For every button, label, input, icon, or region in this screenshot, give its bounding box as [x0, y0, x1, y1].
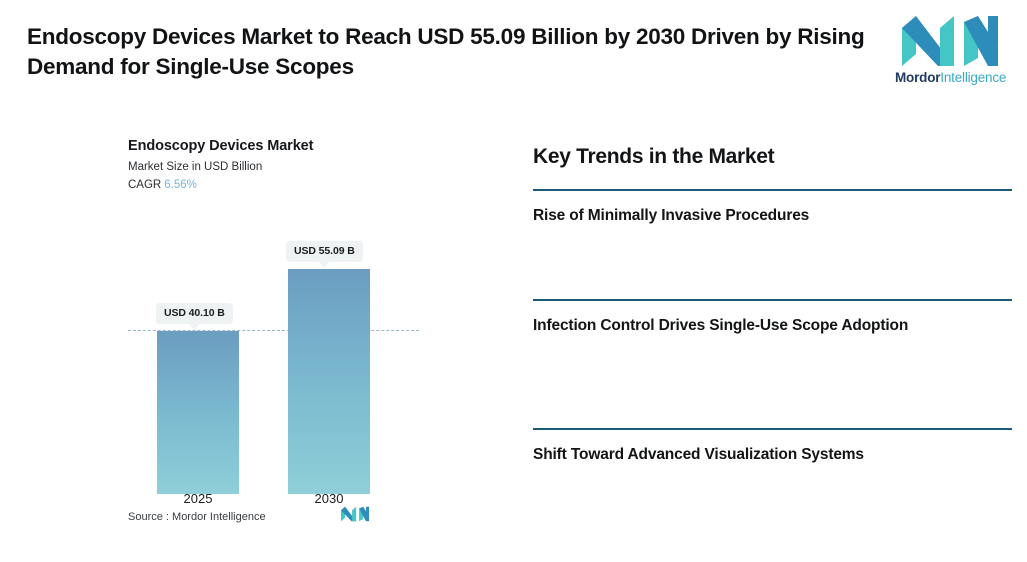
chart-subtitle: Market Size in USD Billion: [128, 161, 418, 173]
brand-name-bold: Mordor: [895, 70, 940, 85]
x-axis-tick-2025: 2025: [157, 491, 239, 506]
source-label: Source :: [128, 511, 169, 523]
mordor-mark-icon: [341, 505, 369, 523]
trend-item-0[interactable]: Rise of Minimally Invasive Procedures: [533, 189, 1012, 299]
trend-item-2[interactable]: Shift Toward Advanced Visualization Syst…: [533, 428, 1012, 504]
chart-plot-area: USD 40.10 B USD 55.09 B 2025 2030: [128, 220, 418, 556]
page-title: Endoscopy Devices Market to Reach USD 55…: [27, 22, 872, 81]
brand-name-light: Intelligence: [940, 70, 1006, 85]
key-trends-heading: Key Trends in the Market: [533, 145, 1012, 169]
chart-cagr: CAGR6.56%: [128, 179, 418, 191]
trend-item-label: Rise of Minimally Invasive Procedures: [533, 205, 1012, 227]
x-axis-tick-2030: 2030: [288, 491, 370, 506]
bar-value-label-2030: USD 55.09 B: [286, 241, 363, 262]
trend-item-label: Infection Control Drives Single-Use Scop…: [533, 315, 1012, 337]
bar-value-label-2025: USD 40.10 B: [156, 303, 233, 324]
mordor-intelligence-logo-icon: [902, 16, 998, 66]
trend-item-1[interactable]: Infection Control Drives Single-Use Scop…: [533, 299, 1012, 428]
brand-wordmark: MordorIntelligence: [895, 70, 1005, 85]
cagr-label: CAGR: [128, 179, 161, 191]
chart-panel: Endoscopy Devices Market Market Size in …: [128, 138, 418, 538]
chart-source: Source : Mordor Intelligence: [128, 511, 418, 523]
key-trends-panel: Key Trends in the Market Rise of Minimal…: [533, 145, 1012, 504]
cagr-value: 6.56%: [164, 179, 197, 191]
bar-2030[interactable]: [288, 269, 370, 494]
brand-logo: MordorIntelligence: [895, 16, 1005, 94]
source-name: Mordor Intelligence: [172, 511, 266, 523]
chart-title: Endoscopy Devices Market: [128, 138, 418, 154]
trend-item-label: Shift Toward Advanced Visualization Syst…: [533, 444, 1012, 466]
bar-2025[interactable]: [157, 331, 239, 494]
